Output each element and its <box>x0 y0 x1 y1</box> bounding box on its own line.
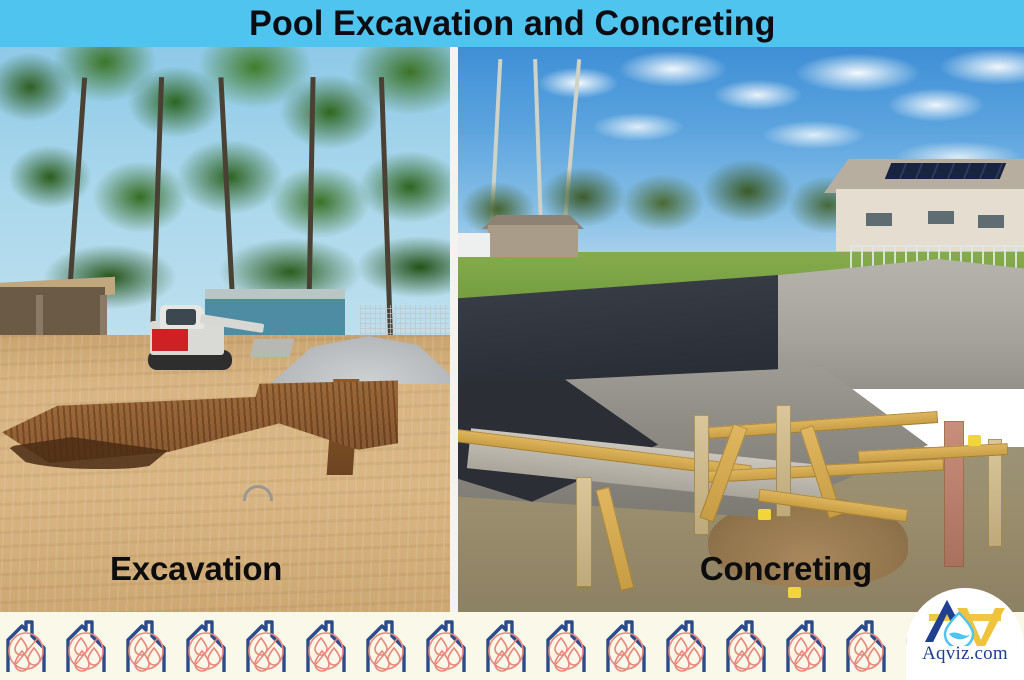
page-title: Pool Excavation and Concreting <box>249 4 775 44</box>
house-water-drop-icon <box>64 618 124 674</box>
star-picket-cap <box>968 435 981 446</box>
house-water-drop-icon <box>424 618 484 674</box>
chain-link-fence <box>360 305 450 339</box>
garden-shed <box>488 225 578 257</box>
footer-pattern-strip <box>0 612 1024 680</box>
house-water-drop-icon <box>544 618 604 674</box>
house-water-drop-icon <box>604 618 664 674</box>
loader-cab-glass <box>166 309 196 325</box>
house-window <box>866 213 892 226</box>
infographic-page: Pool Excavation and Concreting <box>0 0 1024 680</box>
formwork-stake <box>576 477 592 587</box>
star-picket-cap <box>788 587 801 598</box>
aqviz-a-v-droplet-logo-icon <box>915 594 1015 646</box>
loader-bucket <box>250 339 294 357</box>
photo-divider <box>450 47 458 612</box>
formwork-post <box>944 421 964 567</box>
house-water-drop-icon <box>364 618 424 674</box>
house-icon-row <box>0 612 964 680</box>
house-water-drop-icon <box>724 618 784 674</box>
photo-comparison-row: Excavation <box>0 47 1024 612</box>
caption-concreting: Concreting <box>700 550 872 588</box>
solar-panel-array <box>885 163 1006 179</box>
loader-red-panel <box>152 329 188 351</box>
house-water-drop-icon <box>244 618 304 674</box>
house-water-drop-icon <box>184 618 244 674</box>
house-water-drop-icon <box>484 618 544 674</box>
photo-excavation: Excavation <box>0 47 450 612</box>
house-window <box>978 215 1004 228</box>
house-window <box>928 211 954 224</box>
house-water-drop-icon <box>844 618 904 674</box>
caravan <box>458 233 490 257</box>
house-water-drop-icon <box>4 618 64 674</box>
house-water-drop-icon <box>304 618 364 674</box>
caption-excavation: Excavation <box>110 550 282 588</box>
blue-house <box>205 289 345 335</box>
logo-text: Aqviz.com <box>922 644 1008 663</box>
house-water-drop-icon <box>784 618 844 674</box>
header-banner: Pool Excavation and Concreting <box>0 0 1024 47</box>
house-water-drop-icon <box>664 618 724 674</box>
photo-concreting: Concreting <box>458 47 1024 612</box>
house-water-drop-icon <box>124 618 184 674</box>
star-picket-cap <box>758 509 771 520</box>
